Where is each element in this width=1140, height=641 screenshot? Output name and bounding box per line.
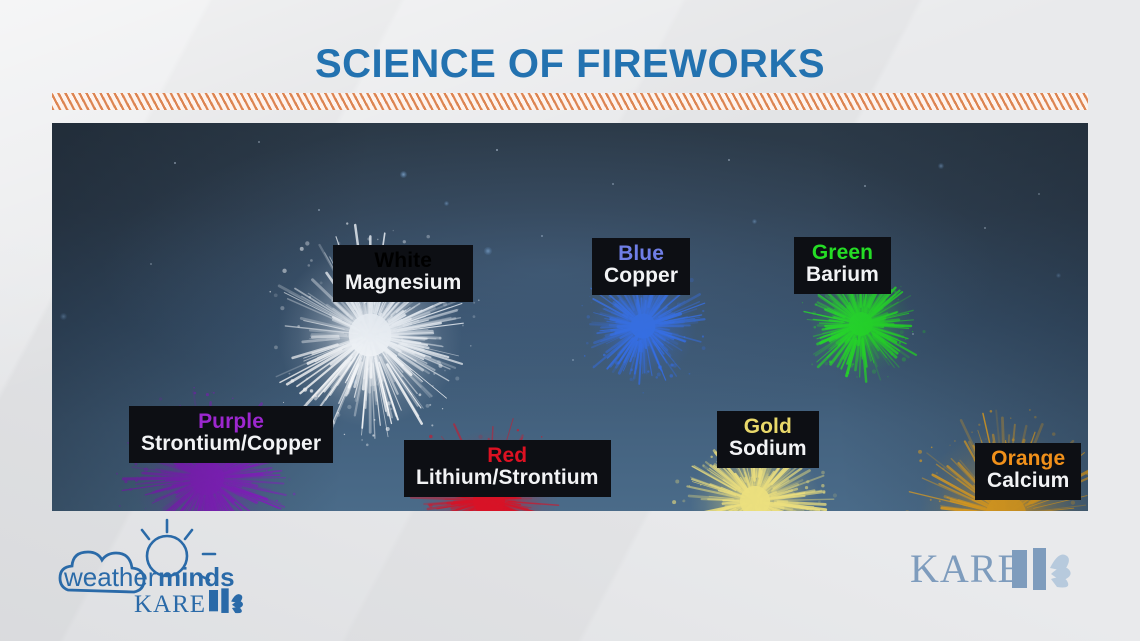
caption-color-label: Gold bbox=[729, 416, 807, 438]
caption-color-label: Purple bbox=[141, 411, 321, 433]
caption-element-label: Barium bbox=[806, 264, 879, 286]
caption-green-barium: Green Barium bbox=[794, 237, 891, 294]
caption-purple-strontium-copper: Purple Strontium/Copper bbox=[129, 406, 333, 463]
caption-color-label: Red bbox=[416, 445, 599, 467]
channel-11-mark bbox=[1012, 548, 1071, 590]
weatherminds-light-text: weather bbox=[63, 562, 157, 592]
caption-element-label: Magnesium bbox=[345, 272, 461, 294]
weatherminds-kare-text: KARE bbox=[134, 591, 206, 618]
striped-divider bbox=[52, 93, 1088, 110]
peacock-icon bbox=[231, 594, 243, 613]
caption-color-label: Orange bbox=[987, 448, 1069, 470]
caption-element-label: Sodium bbox=[729, 438, 807, 460]
caption-element-label: Calcium bbox=[987, 470, 1069, 492]
caption-element-label: Strontium/Copper bbox=[141, 433, 321, 455]
kare-11-logo: KARE bbox=[908, 540, 1088, 602]
peacock-icon bbox=[1050, 555, 1071, 588]
caption-color-label: White bbox=[345, 250, 461, 272]
caption-element-label: Lithium/Strontium bbox=[416, 467, 599, 489]
caption-blue-copper: Blue Copper bbox=[592, 238, 690, 295]
weatherminds-bold-text: minds bbox=[158, 562, 235, 592]
caption-color-label: Green bbox=[806, 242, 879, 264]
caption-color-label: Blue bbox=[604, 243, 678, 265]
weatherminds-logo: weather minds KARE bbox=[56, 518, 286, 623]
caption-element-label: Copper bbox=[604, 265, 678, 287]
title-bar: SCIENCE OF FIREWORKS bbox=[0, 42, 1140, 87]
caption-gold-sodium: Gold Sodium bbox=[717, 411, 819, 468]
kare-station-text: KARE bbox=[910, 546, 1023, 591]
caption-orange-calcium: Orange Calcium bbox=[975, 443, 1081, 500]
caption-white-magnesium: White Magnesium bbox=[333, 245, 473, 302]
channel-11-mark bbox=[209, 588, 243, 613]
fireworks-photo: White Magnesium Blue Copper Green Barium… bbox=[52, 123, 1088, 511]
page-title: SCIENCE OF FIREWORKS bbox=[0, 42, 1140, 87]
caption-red-lithium-strontium: Red Lithium/Strontium bbox=[404, 440, 611, 497]
